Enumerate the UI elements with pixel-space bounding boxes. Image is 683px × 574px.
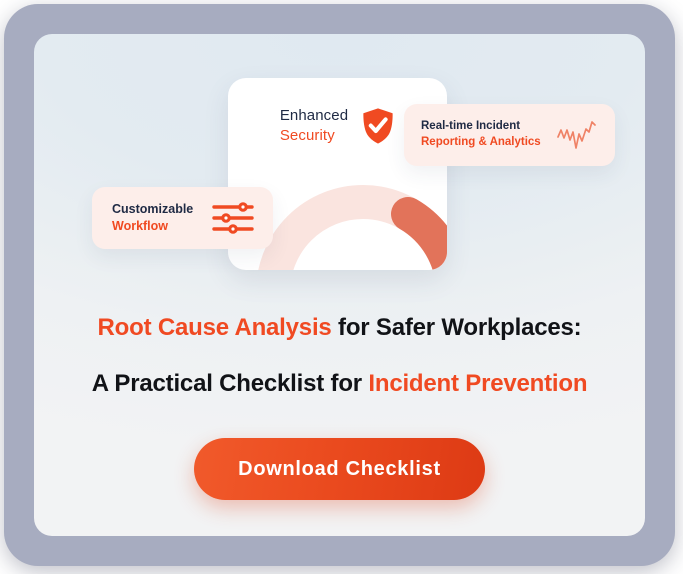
- badge-realtime-line2: Reporting & Analytics: [421, 135, 541, 151]
- headline-block: Root Cause Analysis for Safer Workplaces…: [34, 314, 645, 398]
- shield-check-icon: [361, 107, 395, 145]
- headline-line-1-rest: for Safer Workplaces:: [332, 314, 582, 341]
- feature-card-title: Enhanced Security: [280, 106, 348, 146]
- badge-customizable-workflow: Customizable Workflow: [92, 187, 273, 249]
- headline-line-1: Root Cause Analysis for Safer Workplaces…: [34, 314, 645, 342]
- line-chart-icon: [555, 117, 599, 153]
- headline-line-2-accent: Incident Prevention: [368, 370, 587, 397]
- promo-panel: Enhanced Security: [34, 34, 645, 536]
- headline-line-2-rest: A Practical Checklist for: [92, 370, 369, 397]
- badge-workflow-line1: Customizable: [112, 201, 193, 218]
- hero-graphic: Enhanced Security: [34, 34, 645, 299]
- badge-workflow-line2: Workflow: [112, 218, 193, 235]
- feature-card-title-line2: Security: [280, 126, 348, 146]
- badge-realtime-incident: Real-time Incident Reporting & Analytics: [404, 104, 615, 166]
- headline-line-1-accent: Root Cause Analysis: [98, 314, 332, 341]
- gauge-graphic: [256, 174, 447, 270]
- sliders-icon: [211, 201, 255, 235]
- feature-card-title-line1: Enhanced: [280, 106, 348, 126]
- cta-container: Download Checklist: [34, 438, 645, 500]
- badge-workflow-text: Customizable Workflow: [112, 201, 193, 235]
- outer-frame: Enhanced Security: [4, 4, 675, 566]
- headline-line-2: A Practical Checklist for Incident Preve…: [34, 370, 645, 398]
- badge-realtime-line1: Real-time Incident: [421, 119, 541, 135]
- download-checklist-button[interactable]: Download Checklist: [194, 438, 485, 500]
- badge-realtime-text: Real-time Incident Reporting & Analytics: [421, 119, 541, 150]
